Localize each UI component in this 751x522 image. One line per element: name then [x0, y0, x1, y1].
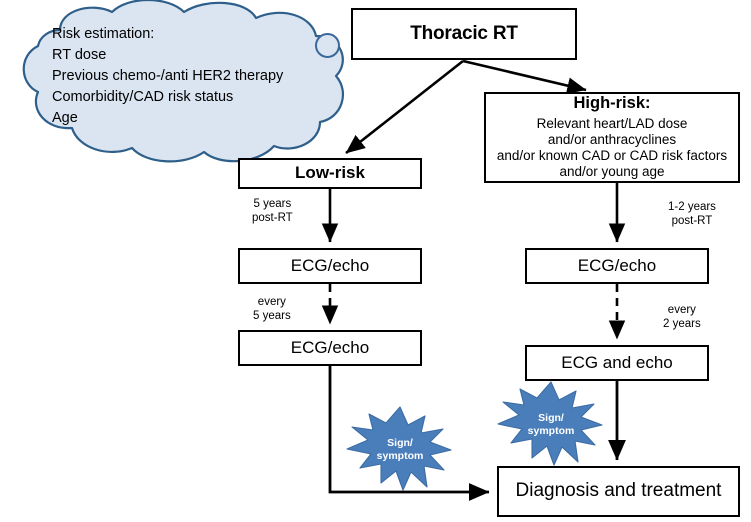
node-high-risk[interactable]: High-risk: Relevant heart/LAD dose and/o…: [484, 92, 740, 183]
node-low-risk-label: Low-risk: [295, 163, 365, 183]
cloud-line-rt-dose: RT dose: [52, 46, 106, 65]
node-high-risk-title: High-risk:: [573, 94, 650, 113]
node-high-risk-line-3: and/or known CAD or CAD risk factors: [497, 148, 727, 164]
node-ecg-echo-left-second-label: ECG/echo: [291, 338, 369, 358]
flowchart-canvas: Risk estimation: RT dose Previous chemo-…: [0, 0, 751, 522]
cloud-line-comorbidity: Comorbidity/CAD risk status: [52, 88, 233, 107]
node-diagnosis-and-treatment[interactable]: Diagnosis and treatment: [497, 466, 740, 517]
node-ecg-echo-right-first[interactable]: ECG/echo: [525, 248, 709, 284]
edge-label-high-risk-first-scan: 1-2 yearspost-RT: [668, 200, 716, 228]
node-ecg-echo-left-first[interactable]: ECG/echo: [238, 248, 422, 284]
node-ecg-echo-left-second[interactable]: ECG/echo: [238, 330, 422, 366]
node-low-risk[interactable]: Low-risk: [238, 158, 422, 189]
node-ecg-and-echo-right-second-label: ECG and echo: [561, 353, 673, 373]
edge-label-high-risk-repeat: every2 years: [663, 303, 701, 331]
node-thoracic-rt-label: Thoracic RT: [410, 23, 518, 45]
node-high-risk-line-1: Relevant heart/LAD dose: [537, 116, 688, 132]
node-ecg-echo-left-first-label: ECG/echo: [291, 256, 369, 276]
cloud-line-previous-therapy: Previous chemo-/anti HER2 therapy: [52, 67, 283, 86]
node-high-risk-line-2: and/or anthracyclines: [548, 132, 676, 148]
node-ecg-and-echo-right-second[interactable]: ECG and echo: [525, 345, 709, 381]
sign-symptom-burst-left: [347, 407, 451, 490]
node-ecg-echo-right-first-label: ECG/echo: [578, 256, 656, 276]
thought-bubble-large-icon: [315, 33, 340, 58]
cloud-heading: Risk estimation:: [52, 25, 154, 44]
edge-label-low-risk-first-scan: 5 yearspost-RT: [252, 197, 293, 225]
node-thoracic-rt[interactable]: Thoracic RT: [351, 8, 577, 60]
node-diagnosis-and-treatment-label: Diagnosis and treatment: [516, 480, 722, 502]
node-high-risk-line-4: and/or young age: [559, 164, 664, 180]
sign-symptom-burst-right: [498, 382, 602, 465]
edge-label-low-risk-repeat: every5 years: [253, 295, 291, 323]
cloud-line-age: Age: [52, 109, 78, 128]
